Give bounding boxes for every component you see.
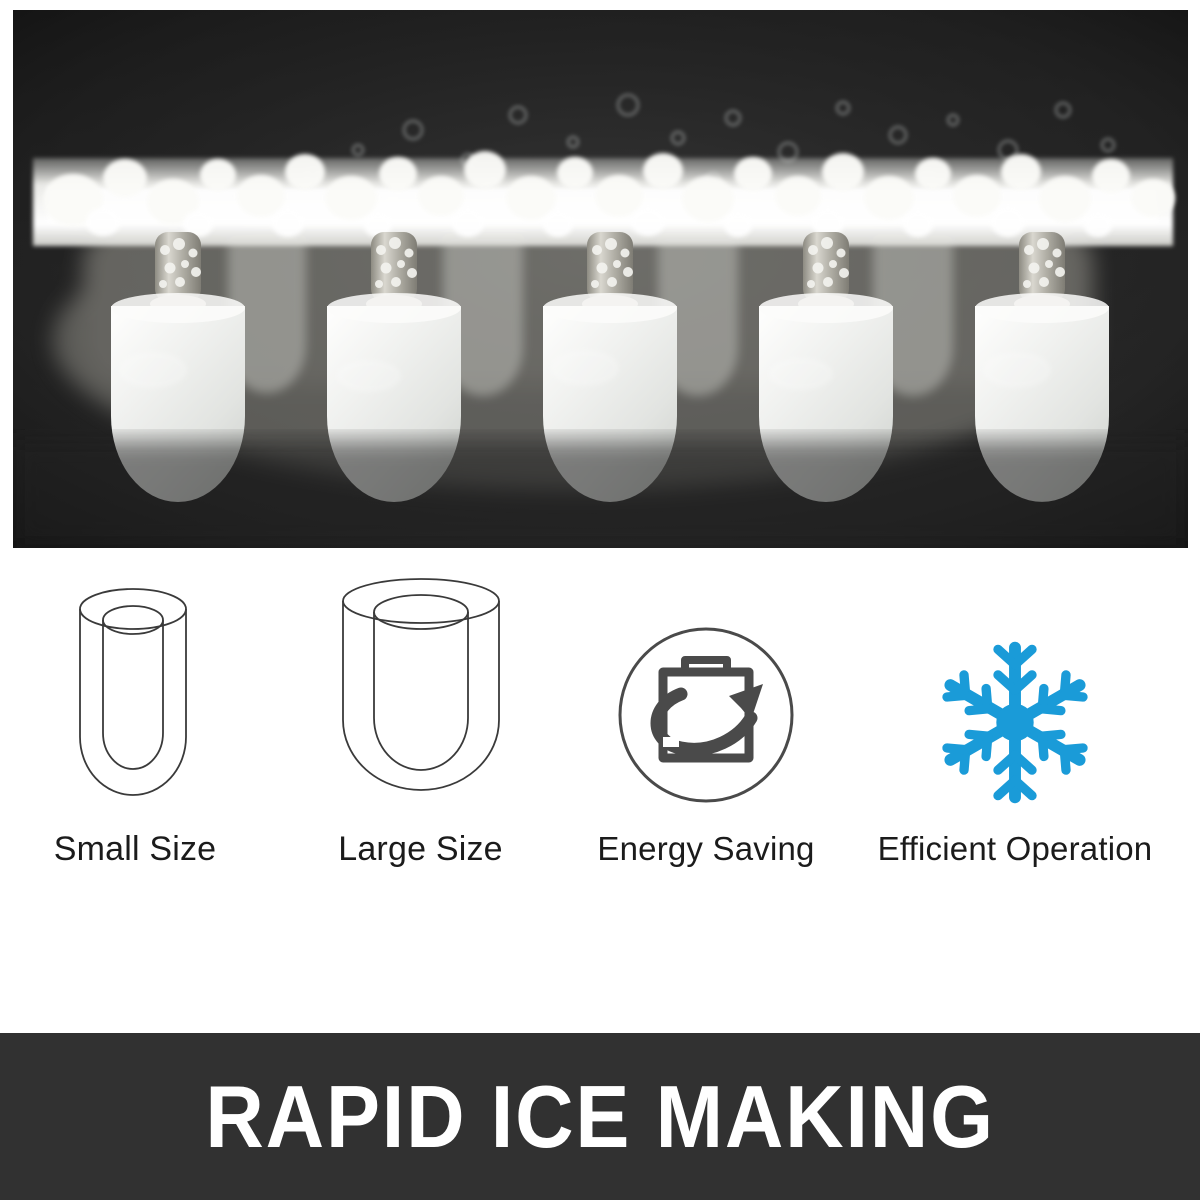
small-ice-cup-outline-icon <box>63 575 208 810</box>
feature-energy-saving: Energy Saving <box>582 560 830 868</box>
feature-large-size-art <box>288 560 553 810</box>
feature-small-size-label: Small Size <box>10 830 260 869</box>
ice-maker-photo-illustration <box>13 10 1188 548</box>
feature-efficient-operation: Efficient Operation <box>845 560 1185 868</box>
bottom-banner: RAPID ICE MAKING <box>0 1033 1200 1200</box>
snowflake-icon <box>930 635 1100 810</box>
feature-large-size: Large Size <box>288 560 553 869</box>
hero-product-photo <box>13 10 1188 548</box>
feature-energy-saving-art <box>582 560 830 810</box>
feature-efficient-operation-art <box>845 560 1185 810</box>
feature-strip: Small Size Large Size <box>0 560 1200 1030</box>
feature-energy-saving-label: Energy Saving <box>582 830 830 868</box>
feature-small-size: Small Size <box>10 560 260 869</box>
feature-large-size-label: Large Size <box>288 830 553 869</box>
product-feature-page: Small Size Large Size <box>0 0 1200 1200</box>
large-ice-cup-outline-icon <box>326 570 516 810</box>
banner-headline: RAPID ICE MAKING <box>205 1073 995 1161</box>
feature-efficient-operation-label: Efficient Operation <box>845 830 1185 868</box>
battery-recycle-arrow-circle-icon <box>611 620 801 810</box>
feature-small-size-art <box>10 560 260 810</box>
